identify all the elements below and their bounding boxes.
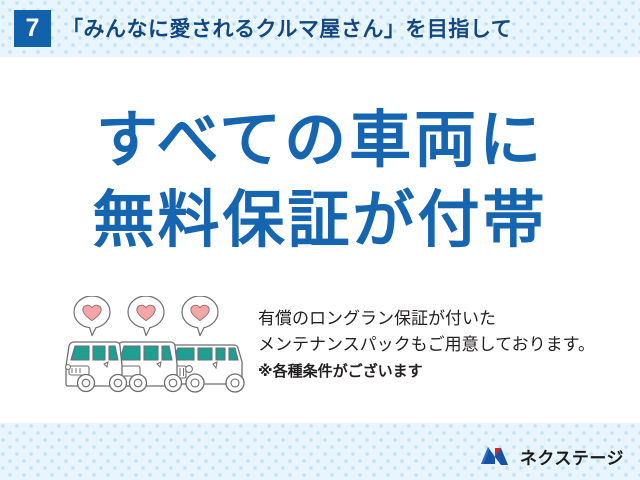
nextage-logo: ネクステージ: [480, 442, 624, 470]
headline-line-1: すべての車両に: [0, 100, 640, 180]
header-number-badge: 7: [14, 10, 51, 47]
header-title: 「みんなに愛されるクルマ屋さん」を目指して: [62, 13, 512, 43]
car-kei-wagon: [66, 342, 127, 392]
warranty-banner: 7 「みんなに愛されるクルマ屋さん」を目指して すべての車両に 無料保証が付帯: [0, 0, 640, 480]
cars-with-hearts-illustration: [58, 296, 254, 396]
heart-bubble-2: [128, 296, 164, 336]
body-copy-line-2: メンテナンスパックもご用意しております。: [258, 332, 628, 358]
heart-bubble-3: [182, 296, 218, 336]
nextage-logo-text: ネクステージ: [520, 444, 624, 469]
headline: すべての車両に 無料保証が付帯: [0, 100, 640, 260]
illustration-svg: [58, 296, 254, 396]
body-copy: 有償のロングラン保証が付いた メンテナンスパックもご用意しております。 ※各種条…: [258, 306, 628, 384]
body-copy-note: ※各種条件がございます: [258, 358, 628, 384]
heart-bubble-1: [74, 296, 110, 336]
body-copy-line-1: 有償のロングラン保証が付いた: [258, 306, 628, 332]
headline-line-2: 無料保証が付帯: [0, 180, 640, 260]
nextage-n-logo-icon: [480, 444, 514, 468]
